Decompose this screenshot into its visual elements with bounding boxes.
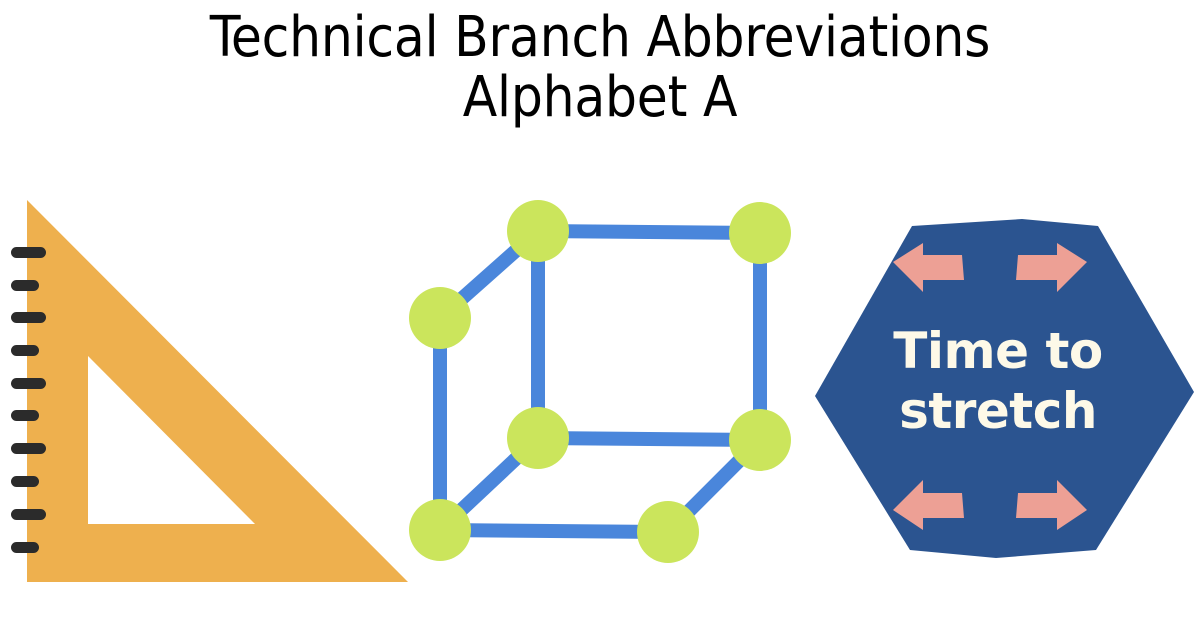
cube-node-front-bottom-right <box>729 409 791 471</box>
badge-text-line-1: Time to <box>893 322 1102 380</box>
ruler-tick-5 <box>11 378 46 389</box>
cube-node-front-top-left <box>507 200 569 262</box>
ruler-tick-8 <box>11 476 39 487</box>
illustration-row: Time to stretch <box>0 180 1200 600</box>
time-to-stretch-badge: Time to stretch <box>800 180 1200 600</box>
cube-node-back-top-left <box>409 287 471 349</box>
cube-edge-front-top <box>538 231 760 233</box>
set-square-triangle-ruler <box>0 180 430 600</box>
ruler-body <box>27 200 408 582</box>
ruler-tick-9 <box>11 509 46 520</box>
ruler-tick-10 <box>11 542 39 553</box>
page-title-line-2: Alphabet A <box>0 68 1200 128</box>
page-canvas: Technical Branch Abbreviations Alphabet … <box>0 0 1200 630</box>
ruler-tick-4 <box>11 345 39 356</box>
wireframe-cube-diagram <box>400 180 800 600</box>
cube-edge-back-bottom-left <box>440 530 668 532</box>
cube-node-back-bottom-right <box>637 501 699 563</box>
ruler-tick-1 <box>11 247 46 258</box>
cube-node-front-top-right <box>729 202 791 264</box>
ruler-tick-3 <box>11 312 46 323</box>
ruler-tick-7 <box>11 443 46 454</box>
ruler-tick-6 <box>11 410 39 421</box>
page-title-line-1: Technical Branch Abbreviations <box>0 8 1200 68</box>
cube-node-back-bottom-left <box>409 499 471 561</box>
cube-edges <box>440 231 760 532</box>
ruler-tick-2 <box>11 280 39 291</box>
cube-node-front-bottom-left <box>507 407 569 469</box>
badge-text-line-2: stretch <box>899 382 1097 440</box>
cube-edge-front-bottom <box>538 438 760 440</box>
page-title: Technical Branch Abbreviations Alphabet … <box>0 8 1200 129</box>
